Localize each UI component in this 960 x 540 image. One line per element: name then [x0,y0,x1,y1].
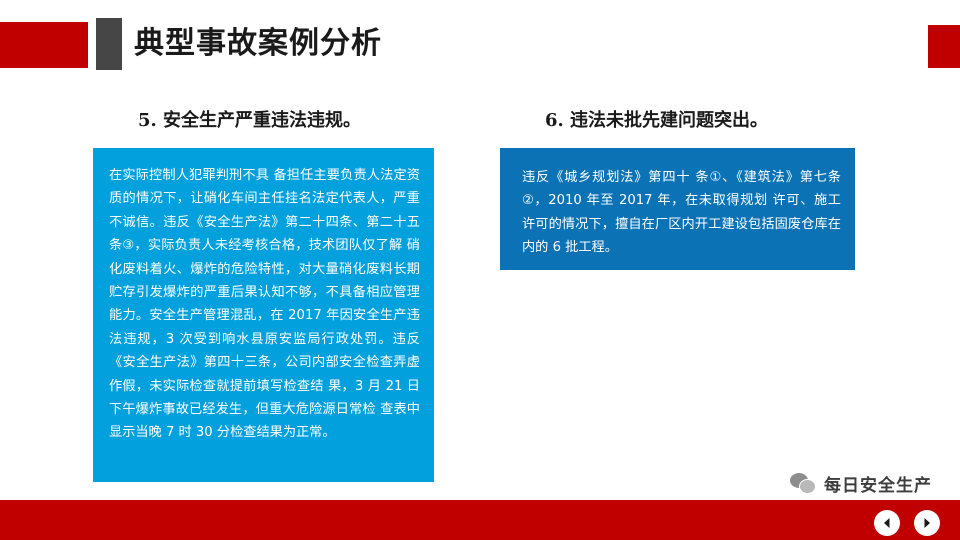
next-slide-button[interactable] [914,510,940,536]
page-title: 典型事故案例分析 [134,22,382,66]
slide-canvas: 典型事故案例分析 5. 安全生产严重违法违规。 在实际控制人犯罪判刑不具 备担任… [0,0,960,540]
content-body-right: 违反《城乡规划法》第四十 条①、《建筑法》第七条②，2010 年至 2017 年… [522,166,841,260]
slide-navigation [874,510,940,536]
header-red-block-right [928,25,960,68]
previous-slide-button[interactable] [874,510,900,536]
header-gray-block [96,18,122,70]
content-body-left: 在实际控制人犯罪判刑不具 备担任主要负责人法定资质的情况下，让硝化车间主任挂名法… [109,164,420,445]
content-box-right: 违反《城乡规划法》第四十 条①、《建筑法》第七条②，2010 年至 2017 年… [500,148,855,270]
content-box-left: 在实际控制人犯罪判刑不具 备担任主要负责人法定资质的情况下，让硝化车间主任挂名法… [93,148,434,482]
footer-bar [0,500,960,540]
brand-label: 每日安全生产 [824,471,932,496]
header-red-block-left [0,22,88,68]
wechat-icon [790,473,816,495]
section-heading-5: 5. 安全生产严重违法违规。 [138,106,361,132]
brand-watermark: 每日安全生产 [790,471,932,496]
section-heading-6: 6. 违法未批先建问题突出。 [545,106,768,132]
